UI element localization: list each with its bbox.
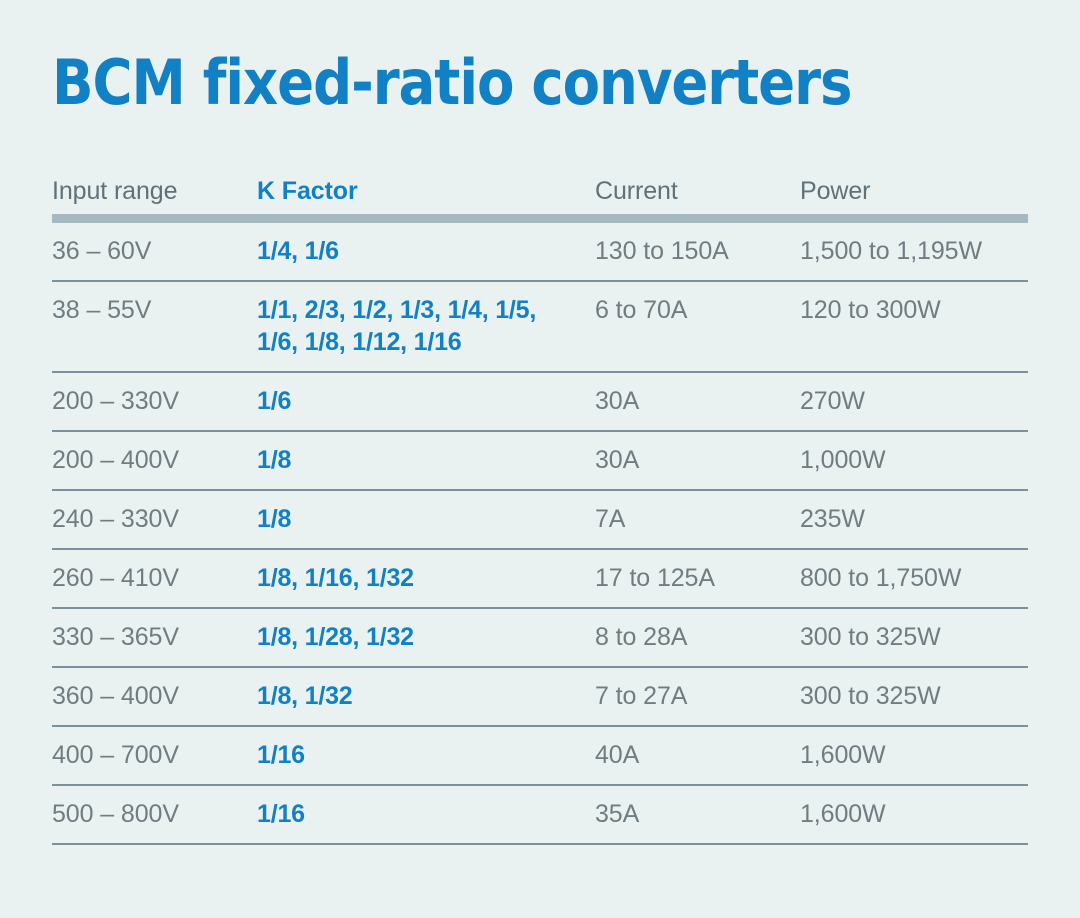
cell-input-range: 240 – 330V bbox=[52, 503, 257, 535]
column-header-input-range: Input range bbox=[52, 175, 257, 207]
cell-input-range: 200 – 330V bbox=[52, 385, 257, 417]
bcm-converters-table: Input range K Factor Current Power 36 – … bbox=[52, 168, 1028, 845]
cell-current: 130 to 150A bbox=[595, 235, 800, 267]
cell-k-factor: 1/16 bbox=[257, 739, 595, 771]
cell-power: 1,500 to 1,195W bbox=[800, 235, 1028, 267]
cell-input-range: 38 – 55V bbox=[52, 294, 257, 326]
table-row: 36 – 60V 1/4, 1/6 130 to 150A 1,500 to 1… bbox=[52, 223, 1028, 280]
table-bottom-rule bbox=[52, 843, 1028, 845]
cell-input-range: 360 – 400V bbox=[52, 680, 257, 712]
cell-current: 6 to 70A bbox=[595, 294, 800, 326]
cell-current: 8 to 28A bbox=[595, 621, 800, 653]
cell-k-factor: 1/8, 1/16, 1/32 bbox=[257, 562, 595, 594]
cell-input-range: 400 – 700V bbox=[52, 739, 257, 771]
cell-input-range: 260 – 410V bbox=[52, 562, 257, 594]
cell-power: 235W bbox=[800, 503, 1028, 535]
page-title: BCM fixed-ratio converters bbox=[52, 46, 914, 120]
cell-input-range: 500 – 800V bbox=[52, 798, 257, 830]
column-header-power: Power bbox=[800, 175, 1028, 207]
table-header-row: Input range K Factor Current Power bbox=[52, 168, 1028, 214]
page-root: BCM fixed-ratio converters Input range K… bbox=[0, 0, 1080, 918]
cell-k-factor: 1/4, 1/6 bbox=[257, 235, 595, 267]
table-row: 38 – 55V 1/1, 2/3, 1/2, 1/3, 1/4, 1/5, 1… bbox=[52, 282, 1028, 371]
table-row: 200 – 400V 1/8 30A 1,000W bbox=[52, 432, 1028, 489]
cell-power: 800 to 1,750W bbox=[800, 562, 1028, 594]
cell-power: 300 to 325W bbox=[800, 680, 1028, 712]
cell-current: 40A bbox=[595, 739, 800, 771]
cell-k-factor: 1/8, 1/32 bbox=[257, 680, 595, 712]
table-row: 260 – 410V 1/8, 1/16, 1/32 17 to 125A 80… bbox=[52, 550, 1028, 607]
cell-input-range: 200 – 400V bbox=[52, 444, 257, 476]
cell-input-range: 330 – 365V bbox=[52, 621, 257, 653]
header-rule bbox=[52, 214, 1028, 223]
cell-power: 120 to 300W bbox=[800, 294, 1028, 326]
column-header-current: Current bbox=[595, 175, 800, 207]
cell-current: 35A bbox=[595, 798, 800, 830]
column-header-k-factor: K Factor bbox=[257, 175, 595, 207]
cell-input-range: 36 – 60V bbox=[52, 235, 257, 267]
cell-k-factor: 1/8 bbox=[257, 503, 595, 535]
table-row: 200 – 330V 1/6 30A 270W bbox=[52, 373, 1028, 430]
cell-current: 7A bbox=[595, 503, 800, 535]
cell-power: 270W bbox=[800, 385, 1028, 417]
table-row: 500 – 800V 1/16 35A 1,600W bbox=[52, 786, 1028, 843]
table-row: 400 – 700V 1/16 40A 1,600W bbox=[52, 727, 1028, 784]
table-row: 330 – 365V 1/8, 1/28, 1/32 8 to 28A 300 … bbox=[52, 609, 1028, 666]
table-row: 240 – 330V 1/8 7A 235W bbox=[52, 491, 1028, 548]
table-row: 360 – 400V 1/8, 1/32 7 to 27A 300 to 325… bbox=[52, 668, 1028, 725]
cell-k-factor: 1/1, 2/3, 1/2, 1/3, 1/4, 1/5, 1/6, 1/8, … bbox=[257, 294, 595, 358]
cell-power: 300 to 325W bbox=[800, 621, 1028, 653]
cell-power: 1,000W bbox=[800, 444, 1028, 476]
cell-power: 1,600W bbox=[800, 739, 1028, 771]
cell-current: 30A bbox=[595, 385, 800, 417]
cell-power: 1,600W bbox=[800, 798, 1028, 830]
cell-k-factor: 1/6 bbox=[257, 385, 595, 417]
cell-k-factor: 1/8, 1/28, 1/32 bbox=[257, 621, 595, 653]
cell-k-factor: 1/8 bbox=[257, 444, 595, 476]
cell-current: 7 to 27A bbox=[595, 680, 800, 712]
cell-current: 17 to 125A bbox=[595, 562, 800, 594]
cell-current: 30A bbox=[595, 444, 800, 476]
cell-k-factor: 1/16 bbox=[257, 798, 595, 830]
